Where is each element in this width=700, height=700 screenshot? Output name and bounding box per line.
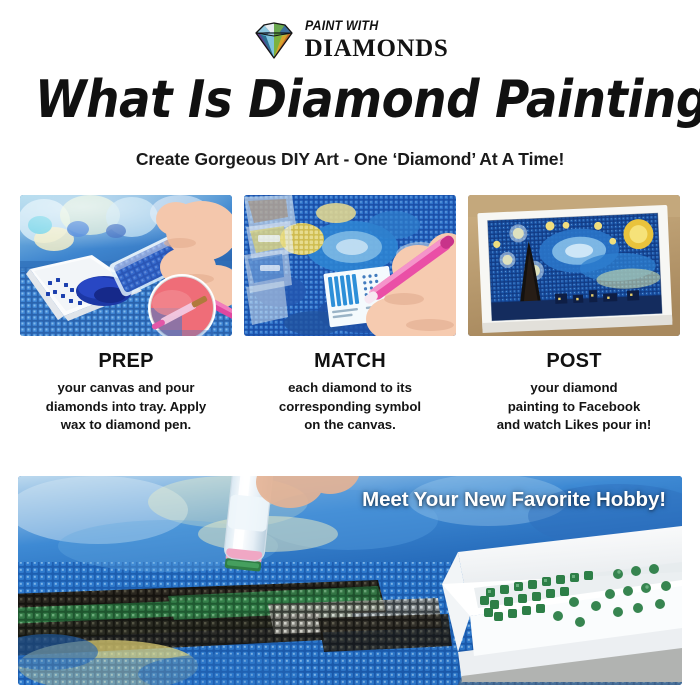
step-body-line1: your canvas and pour	[22, 379, 230, 398]
step-prep: PREP your canvas and pour diamonds into …	[20, 195, 232, 435]
step-body-line3: on the canvas.	[246, 416, 454, 435]
photo-diamond-pen-and-green-diamonds-tray: Meet Your New Favorite Hobby!	[18, 476, 682, 685]
steps-row: PREP your canvas and pour diamonds into …	[20, 195, 680, 435]
step-caption-prep: PREP your canvas and pour diamonds into …	[20, 350, 232, 435]
step-body: your canvas and pour diamonds into tray.…	[20, 379, 232, 435]
step-body: each diamond to its corresponding symbol…	[244, 379, 456, 435]
step-title: PREP	[20, 350, 232, 372]
step-caption-match: MATCH each diamond to its corresponding …	[244, 350, 456, 435]
step-post: POST your diamond painting to Facebook a…	[468, 195, 680, 435]
page-title: What Is Diamond Painting?	[35, 73, 665, 127]
step-body-line2: diamonds into tray. Apply	[22, 398, 230, 417]
step-body: your diamond painting to Facebook and wa…	[468, 379, 680, 435]
step-match: MATCH each diamond to its corresponding …	[244, 195, 456, 435]
step-body-line2: painting to Facebook	[470, 398, 678, 417]
photo-placing-diamonds-with-pen	[244, 195, 456, 336]
photo-pouring-diamonds-into-tray	[20, 195, 232, 336]
step-body-line1: your diamond	[470, 379, 678, 398]
infographic-page: PAINT WITH DIAMONDS What Is Diamond Pain…	[0, 0, 700, 700]
step-title: POST	[468, 350, 680, 372]
banner-headline: Meet Your New Favorite Hobby!	[362, 488, 666, 512]
step-title: MATCH	[244, 350, 456, 372]
step-caption-post: POST your diamond painting to Facebook a…	[468, 350, 680, 435]
brand-bottom-line: DIAMONDS	[305, 36, 449, 61]
step-body-line3: and watch Likes pour in!	[470, 416, 678, 435]
diamond-gem-icon	[252, 20, 296, 60]
step-body-line1: each diamond to its	[246, 379, 454, 398]
page-subtitle: Create Gorgeous DIY Art - One ‘Diamond’ …	[0, 149, 700, 170]
brand-logo: PAINT WITH DIAMONDS	[0, 12, 700, 68]
step-body-line3: wax to diamond pen.	[22, 416, 230, 435]
brand-wordmark: PAINT WITH DIAMONDS	[305, 19, 449, 61]
step-body-line2: corresponding symbol	[246, 398, 454, 417]
brand-top-line: PAINT WITH	[305, 19, 378, 33]
photo-finished-starry-night-canvas	[468, 195, 680, 336]
